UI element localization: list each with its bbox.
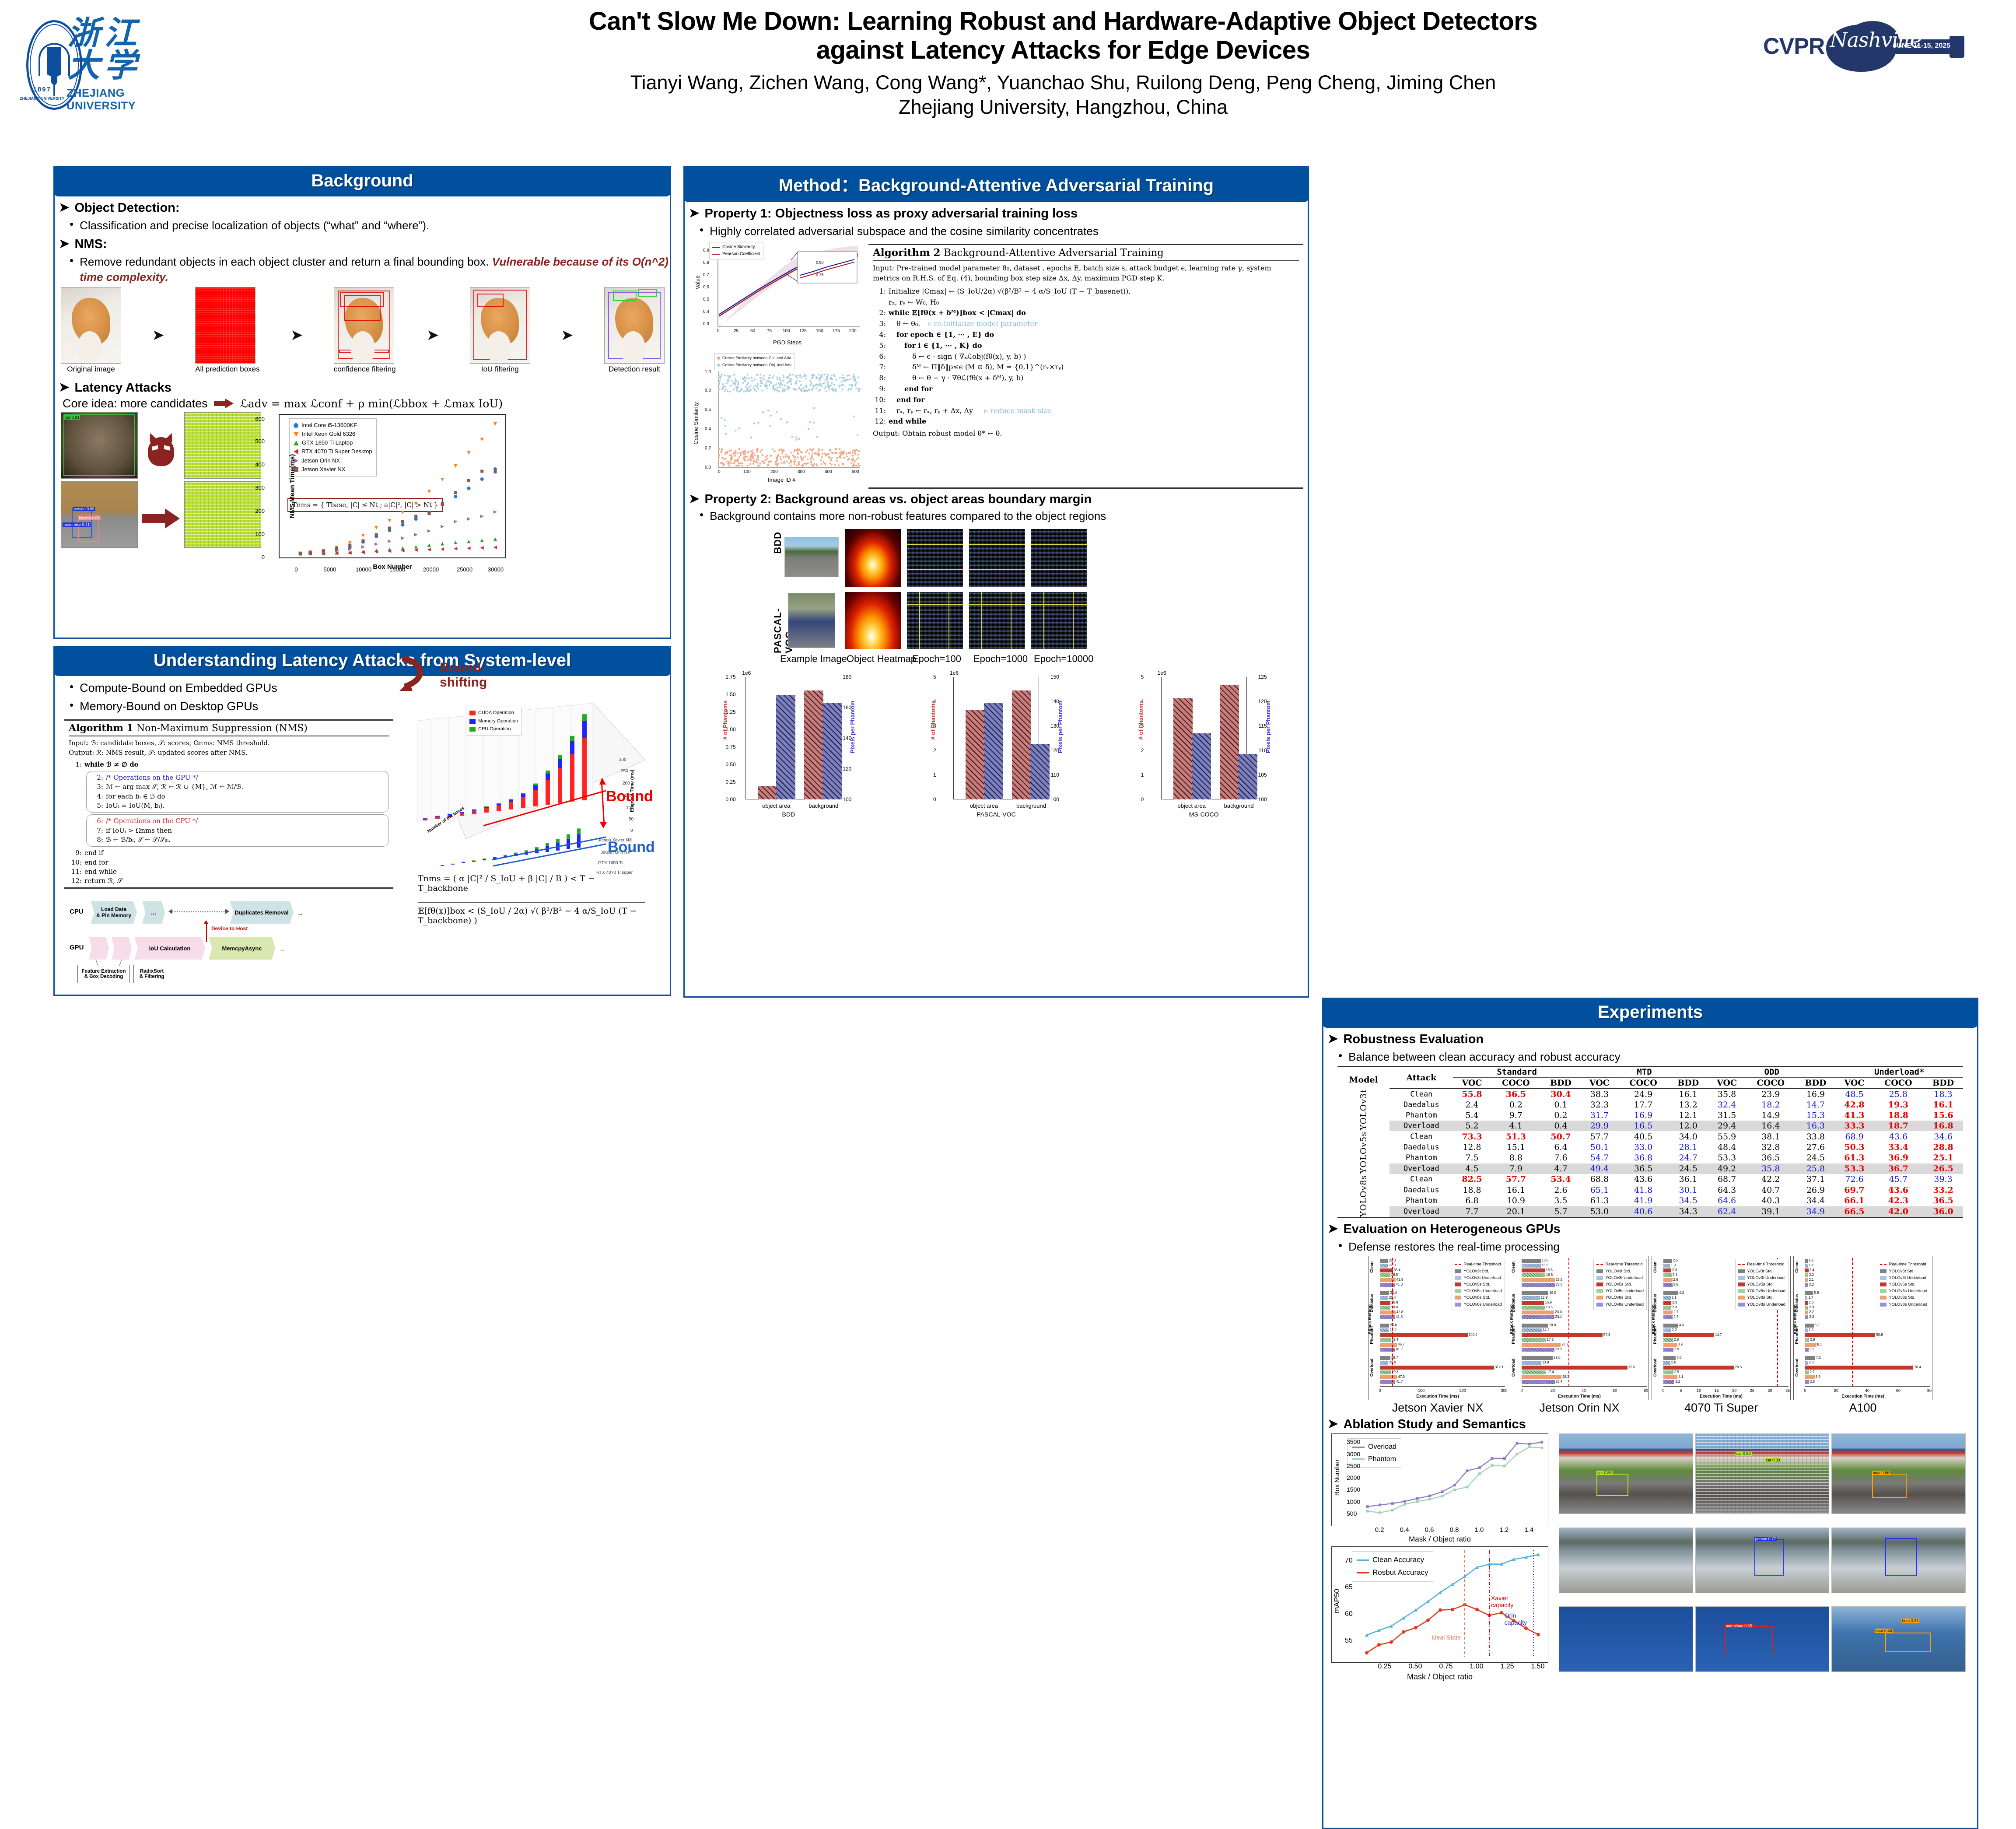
table-cell: 26.9 [1796,1185,1836,1195]
table-cell: 65.1 [1581,1185,1618,1195]
bar [1030,744,1050,799]
table-cell: 35.8 [1746,1163,1795,1174]
table-cell: 34.5 [1668,1195,1708,1206]
bar-value: 2.1 [1809,1278,1814,1282]
bar-value: 2.4 [1809,1268,1814,1272]
bar [1663,1328,1671,1332]
table-row: YOLOv8sClean82.557.753.468.843.636.168.7… [1337,1174,1963,1184]
x-tick: 80 [1644,1388,1648,1393]
zju-english-name: ZHEJIANG UNIVERSITY [66,87,155,112]
bar-value: 15.9 [1545,1300,1552,1304]
bar-value: 23.5 [1556,1278,1563,1282]
table-cell: 50.3 [1835,1142,1873,1153]
chart-pgd-steps: Cosine Similarity Pearson Coefficient Va… [690,241,863,350]
bar-value: 23.4 [1556,1380,1563,1384]
table-row: Overload7.720.15.753.040.634.362.439.134… [1337,1206,1963,1218]
table-cell: 42.8 [1835,1100,1873,1110]
table-cell: 8.8 [1491,1153,1541,1163]
model-label: YOLOv8s [1337,1174,1389,1217]
chart-xlabel-scatter: Image ID # [768,477,796,483]
bar-value: 23.1 [1555,1315,1562,1319]
bar-value: 2.8 [1810,1380,1815,1384]
row-label: Clean [1795,1261,1799,1273]
detection-image-sea-attacked: person 0.77 [1695,1528,1830,1593]
y-tick: 70 [1345,1557,1353,1565]
table-cell: 0.1 [1541,1100,1581,1110]
bar [1805,1356,1815,1360]
table-row: Overload4.57.94.749.436.524.549.235.825.… [1337,1163,1963,1174]
table-cell: 9.7 [1491,1110,1541,1121]
title-block: Can't Slow Me Down: Learning Robust and … [411,7,1715,120]
table-row: YOLOv5sClean73.351.350.757.740.534.055.9… [1337,1131,1963,1142]
bar [1238,754,1257,799]
table-cell: 16.5 [1618,1121,1668,1131]
bar-value: 42.9 [1396,1278,1403,1282]
y-tick: 55 [1345,1637,1353,1645]
table-cell: 48.5 [1835,1089,1873,1100]
bullet-nms: • Remove redundant objects in each objec… [70,254,670,284]
table-cell: 82.5 [1453,1174,1491,1184]
detection-image-sky-attacked: aeroplane 0.65 [1695,1606,1830,1672]
bar-value: 2.9 [1674,1370,1679,1374]
bar [1663,1343,1677,1347]
bar-value: 2.2 [1809,1273,1814,1277]
table-cell: 12.8 [1453,1142,1491,1153]
detection-image-boat-defended: boat 0.31 boat 0.48 [1831,1606,1966,1672]
attack-label: Clean [1389,1131,1453,1142]
attack-label: Phantom [1389,1153,1453,1163]
pipeline-caption: IoU filtering [470,365,530,374]
table-cell: 33.0 [1618,1142,1668,1153]
pipeline-caption: confidence filtering [334,365,396,374]
bar-value: 2.1 [1672,1296,1676,1300]
table-cell: 40.6 [1618,1206,1668,1218]
table-cell: 62.4 [1708,1206,1746,1218]
x-tick: 60 [1613,1388,1617,1393]
bar [1380,1338,1391,1342]
table-cell: 28.1 [1668,1142,1708,1153]
y-tick: 1.75 [725,674,735,680]
bar [1805,1375,1815,1379]
table-row: Phantom6.810.93.561.341.934.564.640.334.… [1337,1195,1963,1206]
heading-property-2: ➤ Property 2: Background areas vs. objec… [689,492,1308,507]
pipeline-image-allboxes [195,287,255,364]
x-tick: 30 [1767,1388,1772,1393]
table-cell: 14.9 [1746,1110,1795,1121]
timeline-sub-feature-extraction: Feature Extraction & Box Decoding [77,965,130,983]
gpu-chart-a100: Real-time ThresholdYOLOv3t Std.YOLOv3t U… [1793,1256,1932,1400]
bar-value: 1.9 [1809,1328,1813,1332]
bar-value: 2.3 [1672,1300,1677,1304]
nms-scatter-points [280,415,505,557]
bar-value: 14.2 [1543,1328,1550,1332]
bar [1663,1301,1671,1305]
bar [1663,1268,1671,1272]
bar [1805,1361,1808,1365]
bar [804,690,823,799]
bullet-memory-bound: • Memory-Bound on Desktop GPUs [70,699,400,715]
table-cell: 32.4 [1708,1100,1746,1110]
table-cell: 42.2 [1746,1174,1795,1184]
bullet-dot-icon: • [1338,1049,1342,1062]
bar [1663,1278,1673,1282]
bar [1805,1259,1808,1263]
y-tick: 3000 [1347,1451,1360,1458]
bar-value: 46.7 [1398,1342,1405,1346]
chevron-right-icon: ➤ [1328,1222,1338,1236]
chart-legend: Real-time ThresholdYOLOv3t Std.YOLOv3t U… [1877,1259,1930,1310]
chevron-right-icon: ➤ [1328,1032,1338,1046]
row-label: Overload [1795,1359,1799,1377]
attack-label: Overload [1389,1163,1453,1174]
y2-tick: 120 [843,766,851,772]
bar-value: 19.0 [1549,1291,1556,1295]
bar-value: 6.9 [1816,1375,1820,1379]
detection-image-race-defended: boat 0.66 [1831,1433,1966,1514]
x-tick: 10 [1697,1388,1701,1393]
bar-value: 47.0 [1398,1375,1405,1379]
chart-title: BDD [782,811,795,818]
bar [1012,690,1031,799]
bar [1380,1324,1389,1328]
pipeline-step: Detection result [604,287,665,374]
table-row: YOLOv3tClean55.836.530.438.324.916.135.8… [1337,1089,1963,1100]
nms-text: Remove redundant objects in each object … [80,255,492,268]
bar [1380,1333,1468,1337]
chart-legend-scatter: Cosine Similarity between Cls. and Adv. … [714,353,794,370]
table-cell: 5.4 [1453,1110,1491,1121]
bar [1663,1356,1676,1360]
chart-xlabel: Execution Time (ms) [1416,1394,1459,1399]
heading-latency-attacks: ➤ Latency Attacks [59,381,670,395]
bar-value: 16.5 [1546,1305,1553,1309]
bar [984,703,1003,799]
bar-value: 14.7 [1715,1333,1722,1337]
bar-value: 2.3 [1809,1315,1814,1319]
attack-label: Clean [1389,1174,1453,1184]
bar-value: 50.8 [1876,1333,1883,1337]
bar-value: 22.0 [1554,1356,1561,1359]
x-tick: object area [1177,802,1205,809]
cvpr-logo: CVPR Nashville JUNE 11-15, 2025 [1763,16,1995,77]
table-row: Daedalus18.816.12.665.141.830.164.340.72… [1337,1185,1963,1195]
y-tick: 1500 [1347,1486,1360,1493]
x-axis-label: Box Number [373,563,412,571]
bar-value: 2.5 [1809,1347,1814,1351]
bar [1522,1283,1555,1287]
ylabel-left: # of Phantoms [1137,701,1144,740]
panel-background: Background ➤ Object Detection: • Classif… [53,166,671,639]
table-cell: 10.9 [1491,1195,1541,1206]
table-cell: 32.3 [1581,1100,1618,1110]
chart-xlabel: Mask / Object ratio [1407,1672,1473,1682]
x-tick: 60 [1896,1388,1900,1393]
table-cell: 17.7 [1618,1100,1668,1110]
pipeline-step: confidence filtering [334,287,396,374]
bar [1522,1343,1561,1347]
bar-value: 3.2 [1675,1380,1680,1384]
bar [966,710,985,799]
table-cell: 57.7 [1491,1174,1541,1184]
table-cell: 72.6 [1835,1174,1873,1184]
table-cell: 16.9 [1618,1110,1668,1121]
bar [1663,1283,1673,1287]
y2-tick: 150 [1050,674,1059,680]
chart-xlabel: Execution Time (ms) [1841,1394,1884,1399]
timeline-cpu-label: CPU [70,908,84,915]
y-tick: 5 [1141,674,1144,680]
table-cell: 7.7 [1453,1206,1491,1218]
bar [1805,1380,1809,1384]
y-tick: 2 [1141,747,1144,753]
bar [1380,1306,1390,1310]
x-tick: 0.50 [1408,1663,1422,1671]
table-cell: 6.4 [1541,1142,1581,1153]
table-cell: 42.3 [1873,1195,1923,1206]
bar-value: 2.0 [1809,1360,1813,1364]
bar [1192,733,1211,799]
table-cell: 26.5 [1923,1163,1963,1174]
image-cat-clean: cat 0.34 [61,412,138,479]
y2-tick: 125 [1258,674,1267,680]
bar [1522,1370,1546,1374]
table-cell: 14.7 [1796,1100,1836,1110]
bar [1380,1366,1494,1370]
pipeline-caption: All prediction boxes [195,365,259,374]
nms-latency-chart: 0 100 200 300 400 500 600 Intel Core i5-… [279,414,506,558]
table-cell: 18.8 [1453,1185,1491,1195]
svg-text:250: 250 [621,769,628,774]
bar-value: 4.3 [1679,1291,1684,1295]
row-label: Clean [1653,1261,1658,1273]
cpu-gpu-timeline-figure: CPU Load Data & Pin Memory ... Duplicate… [70,896,371,983]
table-cell: 64.6 [1708,1195,1746,1206]
row-label: Overload [1511,1359,1516,1377]
bar-value: 2.9 [1674,1347,1679,1351]
table-cell: 29.9 [1581,1121,1618,1131]
bar-value: 2.3 [1672,1305,1677,1309]
chart-title: PASCAL-VOC [976,811,1015,818]
bullet-dot-icon: • [1338,1239,1342,1252]
pipeline-image-iou [470,287,530,364]
bar [758,786,777,799]
bar [1522,1301,1544,1305]
chevron-right-icon: ➤ [59,237,69,251]
y2-tick: 100 [843,796,851,802]
table-cell: 30.4 [1541,1089,1581,1100]
chart-xlabel: Execution Time (ms) [1558,1394,1601,1399]
x-tick: 1.4 [1524,1526,1533,1534]
table-cell: 73.3 [1453,1131,1491,1142]
x-tick: background [1224,802,1254,809]
svg-text:200: 200 [623,781,630,786]
bar-value: 6.2 [1815,1323,1820,1327]
scale-note: 1e6 [1158,670,1166,676]
bar-value: 2.8 [1674,1338,1679,1342]
poster-affiliation: Zhejiang University, Hangzhou, China [411,95,1715,119]
gpu-chart-jetson-xavier-nx: Real-time ThresholdYOLOv3t Std.YOLOv3t U… [1368,1256,1507,1400]
table-cell: 37.1 [1796,1174,1836,1184]
algorithm-2-output: Output: Obtain robust model θ* ← θ. [873,429,1299,439]
table-cell: 35.8 [1708,1089,1746,1100]
table-cell: 36.0 [1923,1206,1963,1218]
bar-value: 2.2 [1809,1310,1814,1314]
bar-value: 1.8 [1809,1258,1813,1262]
heading-property-1: ➤ Property 1: Objectness loss as proxy a… [689,207,1308,221]
x-tick: 20 [1550,1388,1555,1393]
table-cell: 18.2 [1746,1100,1795,1110]
bar [1380,1380,1395,1384]
table-row: Daedalus12.815.16.450.133.028.148.432.82… [1337,1142,1963,1153]
table-cell: 55.8 [1453,1089,1491,1100]
row-label: Overload [1653,1359,1658,1377]
timeline-gpu-label: GPU [70,944,84,951]
table-cell: 43.6 [1873,1131,1923,1142]
bar-value: 2.5 [1673,1258,1678,1262]
bound-label-red: Bound [606,788,653,805]
attack-label: Overload [1389,1206,1453,1218]
bar [1805,1333,1875,1337]
bar [1663,1310,1673,1314]
timeline-sub-radixsort: RadixSort & Filtering [133,965,170,983]
table-cell: 53.3 [1835,1163,1873,1174]
section-title-experiments: Experiments [1322,998,1978,1028]
bar [1805,1301,1808,1305]
example-image-pascal [788,593,835,648]
elapsed-time-3d-chart: 300250 200150 10050 0 Jetson Xavier NX J… [400,694,654,878]
bar-value: 3.9 [1678,1342,1683,1346]
table-cell: 7.5 [1453,1153,1491,1163]
table-cell: 24.5 [1668,1163,1708,1174]
chart-ylabel-scatter: Cosine Similarity [693,402,699,445]
y-tick: 3500 [1347,1438,1360,1445]
bar [1805,1291,1813,1295]
table-cell: 33.4 [1873,1142,1923,1153]
noise-epoch100-bdd [907,529,963,587]
image-cat-attacked [184,412,261,479]
noise-epoch1000-bdd [969,529,1025,587]
y-tick: 0.75 [725,744,735,750]
x-tick: 40 [1582,1388,1586,1393]
bar-value: 57.3 [1603,1333,1610,1337]
heatmap-grid-captions: Example Image Object Heatmap Epoch=100 E… [685,653,1308,668]
x-tick: 0.6 [1425,1526,1434,1534]
bar [1805,1268,1809,1272]
table-cell: 33.3 [1835,1121,1873,1131]
table-cell: 5.7 [1541,1206,1581,1218]
bar [1522,1273,1545,1277]
x-tick: 0 [1662,1388,1664,1393]
bar [1663,1370,1673,1374]
table-cell: 61.3 [1835,1153,1873,1163]
table-cell: 40.3 [1746,1195,1795,1206]
table-row: Phantom7.58.87.654.736.824.753.336.524.5… [1337,1153,1963,1163]
realtime-threshold-line [1392,1258,1393,1387]
bar [1663,1366,1734,1370]
heading-robustness-evaluation: ➤ Robustness Evaluation [1328,1032,1977,1047]
chart-title: MS-COCO [1189,811,1219,818]
bullet-defense-restores: • Defense restores the real-time process… [1338,1239,1977,1254]
bar [1522,1264,1541,1268]
bar [1663,1264,1670,1268]
bar [1522,1375,1561,1379]
bar [1663,1338,1673,1342]
bar [1663,1291,1678,1295]
detection-image-sea-clean [1559,1528,1693,1593]
bar [1380,1348,1395,1352]
y-axis-label: NMS Mean Time(ms) [289,454,296,518]
table-cell: 4.1 [1491,1121,1541,1131]
chart-cosine-scatter: Cosine Similarity between Cls. and Adv. … [690,353,863,484]
table-cell: 55.9 [1708,1131,1746,1142]
gpu-execution-charts: Real-time ThresholdYOLOv3t Std.YOLOv3t U… [1323,1256,1977,1400]
x-tick: object area [970,802,998,809]
detection-image-sea-defended [1831,1528,1966,1593]
noise-epoch100-pascal [907,592,963,649]
devil-icon [145,431,177,470]
bar-value: 1.8 [1809,1263,1813,1267]
bar [1522,1324,1548,1328]
table-row: Daedalus2.40.20.132.317.713.232.418.214.… [1337,1100,1963,1110]
table-cell: 7.6 [1541,1153,1581,1163]
gpu-chart-names: Jetson Xavier NXJetson Orin NX4070 Ti Su… [1323,1401,1977,1415]
bar [1380,1370,1391,1374]
table-cell: 36.9 [1873,1153,1923,1163]
annotation: Xavier capacity [1491,1595,1522,1608]
core-idea-label: Core idea: more candidates [63,397,208,410]
bullet-dot-icon: • [70,680,73,693]
table-cell: 51.3 [1491,1131,1541,1142]
table-cell: 16.1 [1491,1185,1541,1195]
table-cell: 41.9 [1618,1195,1668,1206]
bar-value: 78.4 [1914,1365,1921,1369]
arrow-right-icon: ➤ [149,297,168,374]
y2-tick: 180 [843,674,851,680]
bar [1663,1324,1678,1328]
bar [1805,1278,1808,1282]
chart-legend-pgd: Cosine Similarity Pearson Coefficient [709,242,763,259]
table-cell: 34.4 [1796,1195,1836,1206]
bar-value: 2.0 [1671,1360,1676,1364]
y-tick: 1000 [1347,1498,1360,1505]
bar-value: 24.2 [1389,1328,1396,1332]
bar [1522,1348,1554,1352]
table-cell: 36.7 [1873,1163,1923,1174]
zju-seal-icon: 1897 ZHEJIANG UNIVERSITY [23,16,61,114]
bound-shifting-annotation: Bound-shifting [398,653,503,693]
attack-label: Clean [1389,1089,1453,1100]
example-image-bdd [784,537,839,577]
section-title-method: Method：Background-Attentive Adversarial … [683,166,1309,202]
y-tick: 60 [1345,1610,1353,1618]
poster-title-line2: against Latency Attacks for Edge Devices [411,36,1715,65]
y-tick: 0.50 [725,761,735,767]
algorithm-2-box: Algorithm 2 Background-Attentive Adversa… [868,244,1303,489]
x-tick: 100 [1418,1388,1424,1393]
bar-value: 7.2 [1816,1356,1821,1359]
ylabel-left: # of Phantoms [930,701,936,740]
svg-text:0: 0 [630,828,633,833]
table-cell: 24.5 [1796,1153,1836,1163]
table-cell: 39.3 [1923,1174,1963,1184]
bar [1663,1375,1677,1379]
gpu-name: Jetson Xavier NX [1368,1401,1507,1415]
x-tick: 0 [1520,1388,1522,1393]
bar-value: 1.7 [1808,1296,1813,1300]
table-cell: 66.1 [1835,1195,1873,1206]
y2-tick: 100 [1258,796,1267,802]
table-cell: 12.1 [1668,1110,1708,1121]
